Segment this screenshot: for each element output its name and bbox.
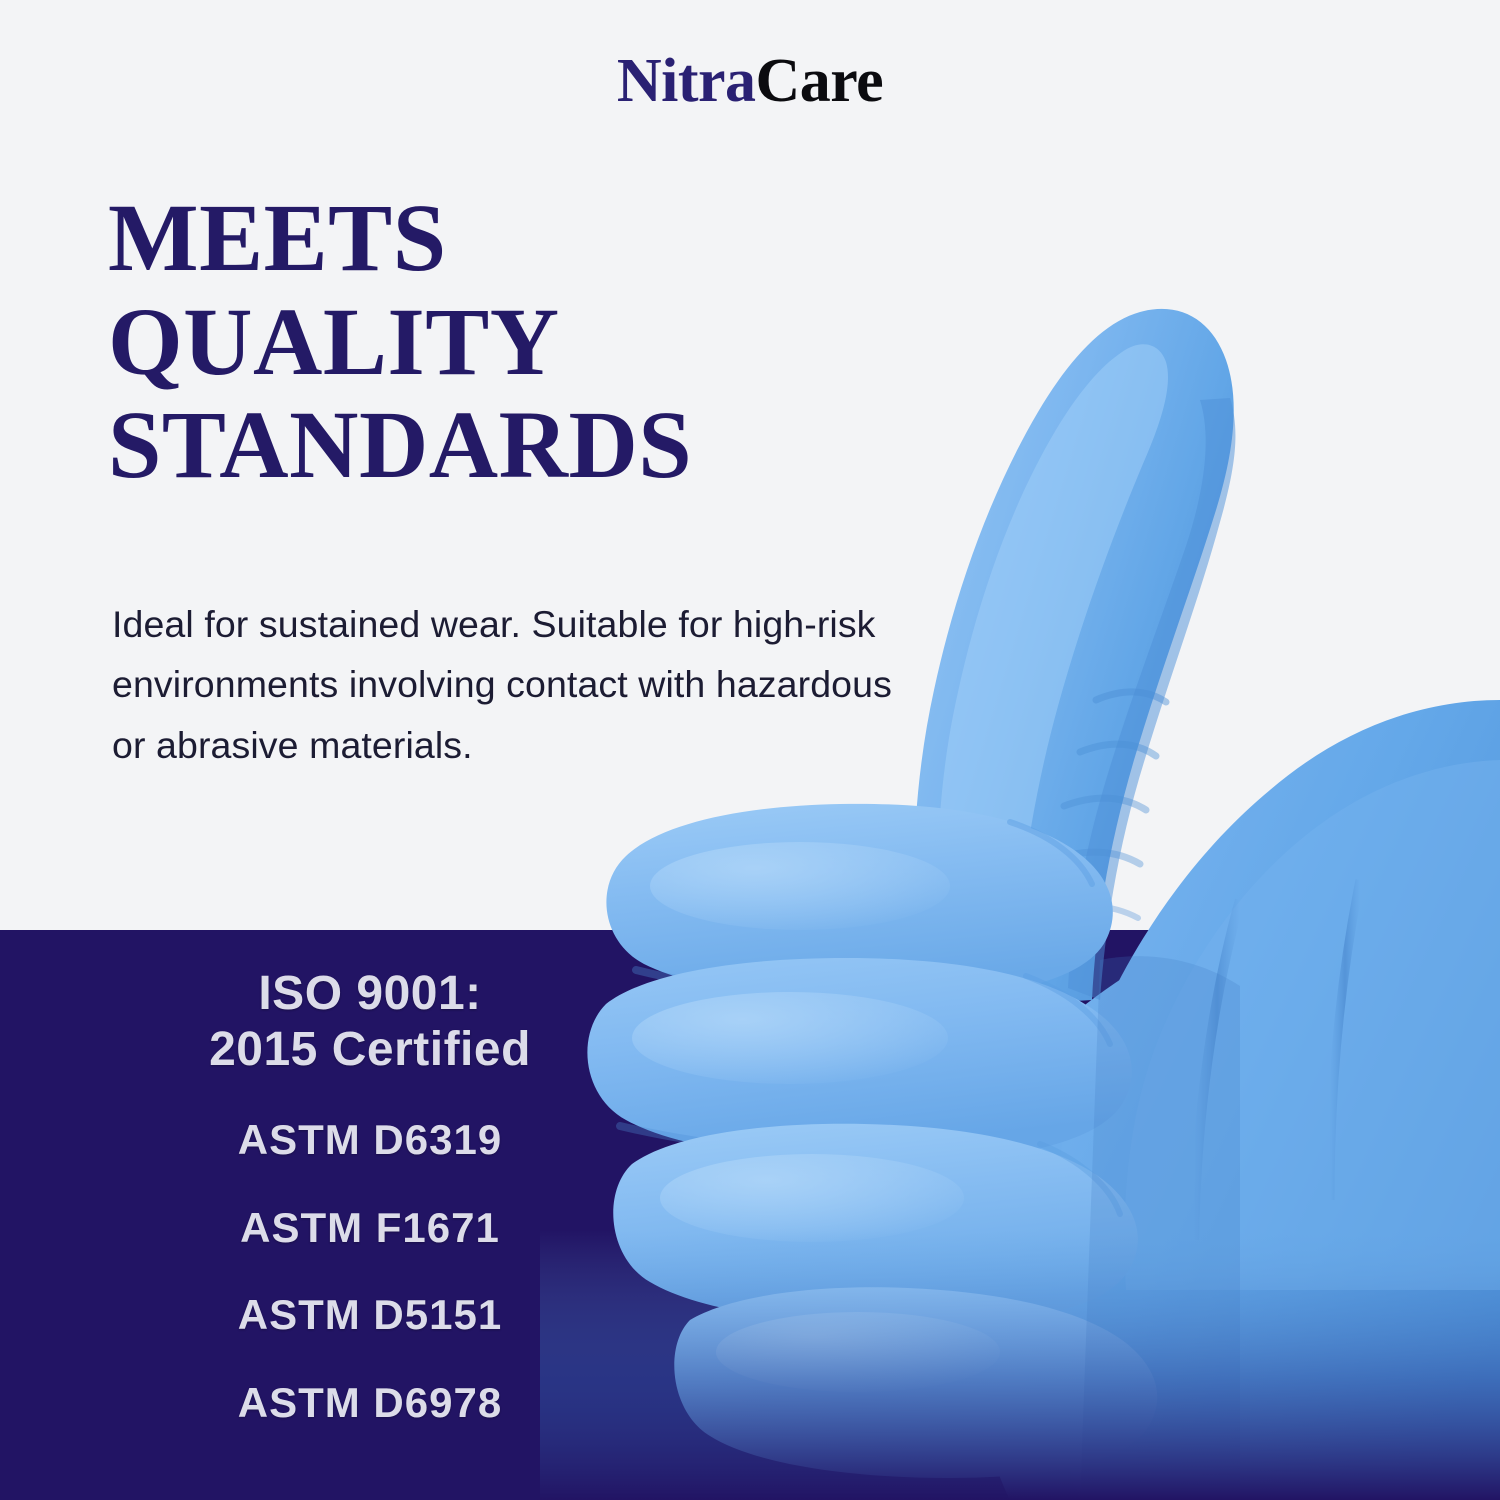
headline-line-3: STANDARDS [108, 393, 868, 497]
body-paragraph: Ideal for sustained wear. Suitable for h… [112, 594, 902, 776]
brand-name-secondary: Care [755, 47, 883, 115]
certification-sublabel: 2015 Certified [70, 1022, 670, 1078]
headline-line-1: MEETS [108, 186, 868, 290]
certifications-panel: ISO 9001: 2015 Certified ASTM D6319 ASTM… [0, 930, 1500, 1500]
headline-line-2: QUALITY [108, 290, 868, 394]
certification-label: ISO 9001: [258, 967, 481, 1020]
certification-item-astm-d5151: ASTM D5151 [70, 1290, 670, 1340]
certification-item-astm-d6978: ASTM D6978 [70, 1378, 670, 1428]
certification-item-astm-d6319: ASTM D6319 [70, 1115, 670, 1165]
certifications-list: ISO 9001: 2015 Certified ASTM D6319 ASTM… [70, 966, 670, 1428]
headline: MEETS QUALITY STANDARDS [108, 186, 868, 497]
brand-logo: NitraCare [0, 50, 1500, 112]
product-feature-card: NitraCare MEETS QUALITY STANDARDS Ideal … [0, 0, 1500, 1500]
brand-name-primary: Nitra [617, 47, 756, 115]
certification-item-iso-9001: ISO 9001: 2015 Certified [70, 966, 670, 1077]
certification-item-astm-f1671: ASTM F1671 [70, 1203, 670, 1253]
